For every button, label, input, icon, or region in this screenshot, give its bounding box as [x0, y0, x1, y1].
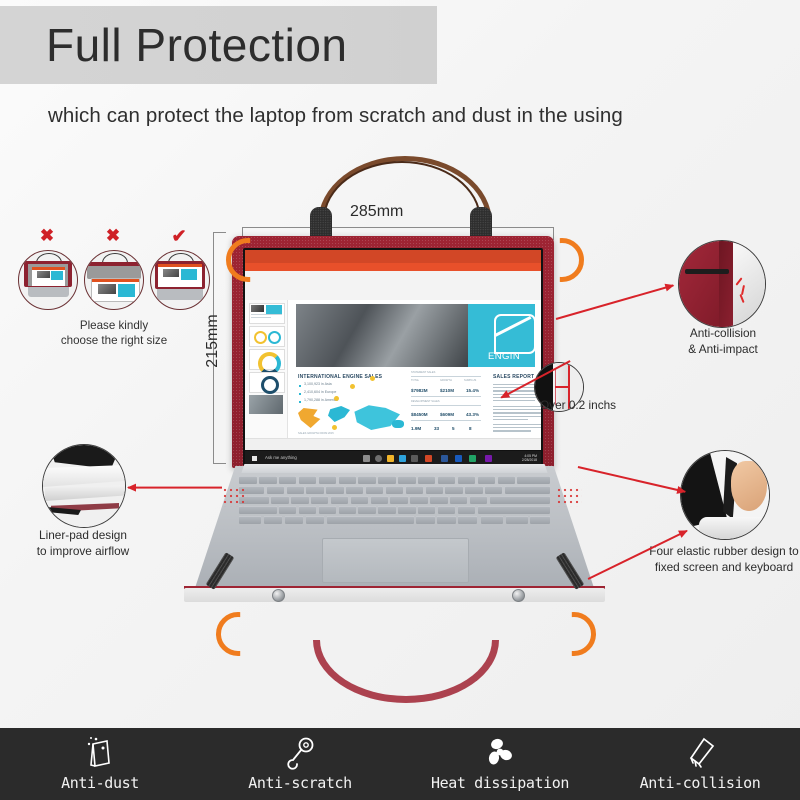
feature-heat-dissipation[interactable]: Heat dissipation: [400, 728, 600, 800]
liner-pad-line2: to improve airflow: [20, 544, 146, 560]
taskbar-word-icon[interactable]: [441, 455, 448, 462]
laptop-in-case: ENGIN INTERNATIONAL ENGINE SALES 3,100,9…: [232, 236, 554, 468]
size-guide: ✖ ✖ ✔: [14, 228, 214, 346]
liner-pad-caption: Liner-pad design to improve airflow: [20, 528, 146, 559]
anti-collision-line1: Anti-collision: [658, 326, 788, 342]
taskbar-clock[interactable]: 4:05 PM 2/28/2018: [522, 454, 537, 463]
size-guide-caption: Please kindly choose the right size: [14, 318, 214, 348]
powerpoint-ribbon: [245, 271, 541, 301]
rubber-strap-caption: Four elastic rubber design to fixed scre…: [628, 544, 800, 575]
feature-bar: Anti-dust Anti-scratch He: [0, 728, 800, 800]
taskbar-mic-icon[interactable]: [363, 455, 370, 462]
size-thumb-correct: [150, 250, 210, 310]
stats-g1-v1: $7982M: [411, 388, 428, 393]
rivet-bottom-right: [512, 589, 525, 602]
stats-g2-v2: $609M: [440, 412, 454, 417]
key-icon: [280, 736, 320, 770]
size-option-mark-wrong-2: ✖: [84, 226, 142, 246]
engin-brand-text: ENGIN: [488, 351, 520, 362]
accent-arc-bottom-right: [552, 612, 596, 656]
tilted-device-icon: [680, 736, 720, 770]
size-guide-caption-line1: Please kindly: [14, 318, 214, 333]
size-thumb-too-large: [84, 250, 144, 310]
thickness-caption: Over 0.2 inchs: [540, 398, 660, 414]
taskbar-onenote2-icon[interactable]: [485, 455, 492, 462]
heat-vent-right-icon: [556, 487, 582, 507]
stats-g3-v3: 5: [452, 426, 455, 431]
slide-heading-right: SALES REPORT: [493, 374, 534, 380]
keyboard[interactable]: [239, 476, 549, 530]
laptop-base: [193, 466, 596, 606]
slide-brand-panel: ENGIN: [468, 304, 535, 367]
active-slide: ENGIN INTERNATIONAL ENGINE SALES 3,100,9…: [288, 300, 541, 439]
stats-g1-v3: 15.4%: [466, 388, 479, 393]
powerpoint-titlebar: [245, 250, 541, 263]
accent-arc-bottom-left: [216, 612, 260, 656]
liner-pad-line1: Liner-pad design: [20, 528, 146, 544]
arrow-to-anti-collision: [556, 284, 674, 319]
taskbar-onenote-icon[interactable]: [455, 455, 462, 462]
anti-collision-caption: Anti-collision & Anti-impact: [658, 326, 788, 357]
slide-bullet-1: 3,100,923 in Asia: [304, 382, 332, 386]
windows-taskbar[interactable]: Ask me anything 4:05 PM 2/28/2018: [245, 451, 541, 466]
liner-pad-thumb: [42, 444, 126, 528]
arrow-to-liner-pad: [128, 487, 222, 489]
taskbar-cortana-icon[interactable]: [375, 455, 382, 462]
page-subtitle: which can protect the laptop from scratc…: [48, 104, 623, 128]
anti-collision-thumb: [678, 240, 766, 328]
base-hinge: [241, 464, 547, 473]
size-guide-caption-line2: choose the right size: [14, 333, 214, 348]
trackpad[interactable]: [322, 538, 469, 583]
feature-anti-dust-label: Anti-dust: [0, 774, 200, 792]
slide-growth-caption: SALES GROWTH FROM 2015: [298, 432, 334, 435]
page-title: Full Protection: [46, 12, 348, 78]
fan-icon: [480, 736, 520, 770]
case-bottom-edge: [184, 588, 605, 602]
stats-group2-label: DEVELOPMENT SALES: [411, 400, 440, 403]
stats-g3-v2: 33: [434, 426, 439, 431]
bottom-handle-texture: [313, 640, 499, 703]
height-dimension-label: 215mm: [204, 306, 222, 376]
clock-date: 2/28/2018: [522, 458, 537, 462]
stats-g3-v1: 1.9M: [411, 426, 421, 431]
anti-collision-line2: & Anti-impact: [658, 342, 788, 358]
rubber-strap-line2: fixed screen and keyboard: [628, 560, 800, 576]
taskbar-excel-icon[interactable]: [469, 455, 476, 462]
stats-g2-v1: $8450M: [411, 412, 428, 417]
feature-anti-dust[interactable]: Anti-dust: [0, 728, 200, 800]
slide-engine-photo: [296, 304, 468, 367]
taskbar-explorer-icon[interactable]: [387, 455, 394, 462]
feature-anti-collision[interactable]: Anti-collision: [600, 728, 800, 800]
report-paragraph-2: [493, 406, 541, 422]
stats-g3-v4: 8: [469, 426, 472, 431]
size-thumb-too-small: [18, 250, 78, 310]
slide-thumbnail-pane: [245, 300, 288, 450]
taskbar-powerpoint-icon[interactable]: [425, 455, 432, 462]
start-button-icon[interactable]: [252, 456, 257, 461]
stats-g2-v3: 43.3%: [466, 412, 479, 417]
feature-anti-collision-label: Anti-collision: [600, 774, 800, 792]
taskbar-mail-icon[interactable]: [411, 455, 418, 462]
feature-heat-dissipation-label: Heat dissipation: [400, 774, 600, 792]
slide-bullet-3: 1,790,288 in America: [304, 398, 338, 402]
size-option-mark-wrong-1: ✖: [18, 226, 76, 246]
infographic-canvas: Full Protection which can protect the la…: [0, 0, 800, 800]
heat-vent-left-icon: [222, 487, 248, 507]
taskbar-store-icon[interactable]: [399, 455, 406, 462]
feature-anti-scratch-label: Anti-scratch: [200, 774, 400, 792]
slide-bullet-2: 2,410,604 in Europe: [304, 390, 336, 394]
taskbar-search-text[interactable]: Ask me anything: [265, 455, 297, 460]
stats-g1-v2: $210M: [440, 388, 454, 393]
dust-sheet-icon: [80, 736, 120, 770]
rivet-bottom-left: [272, 589, 285, 602]
report-paragraph-3: [493, 424, 541, 434]
stats-group1-label: STATEMENT SALES: [411, 371, 435, 374]
rubber-strap-thumb: [680, 450, 770, 540]
powerpoint-statusbar: [245, 438, 541, 450]
powerpoint-tabbar: [245, 263, 541, 271]
size-option-mark-correct: ✔: [150, 226, 208, 246]
laptop-screen: ENGIN INTERNATIONAL ENGINE SALES 3,100,9…: [245, 250, 541, 450]
feature-anti-scratch[interactable]: Anti-scratch: [200, 728, 400, 800]
